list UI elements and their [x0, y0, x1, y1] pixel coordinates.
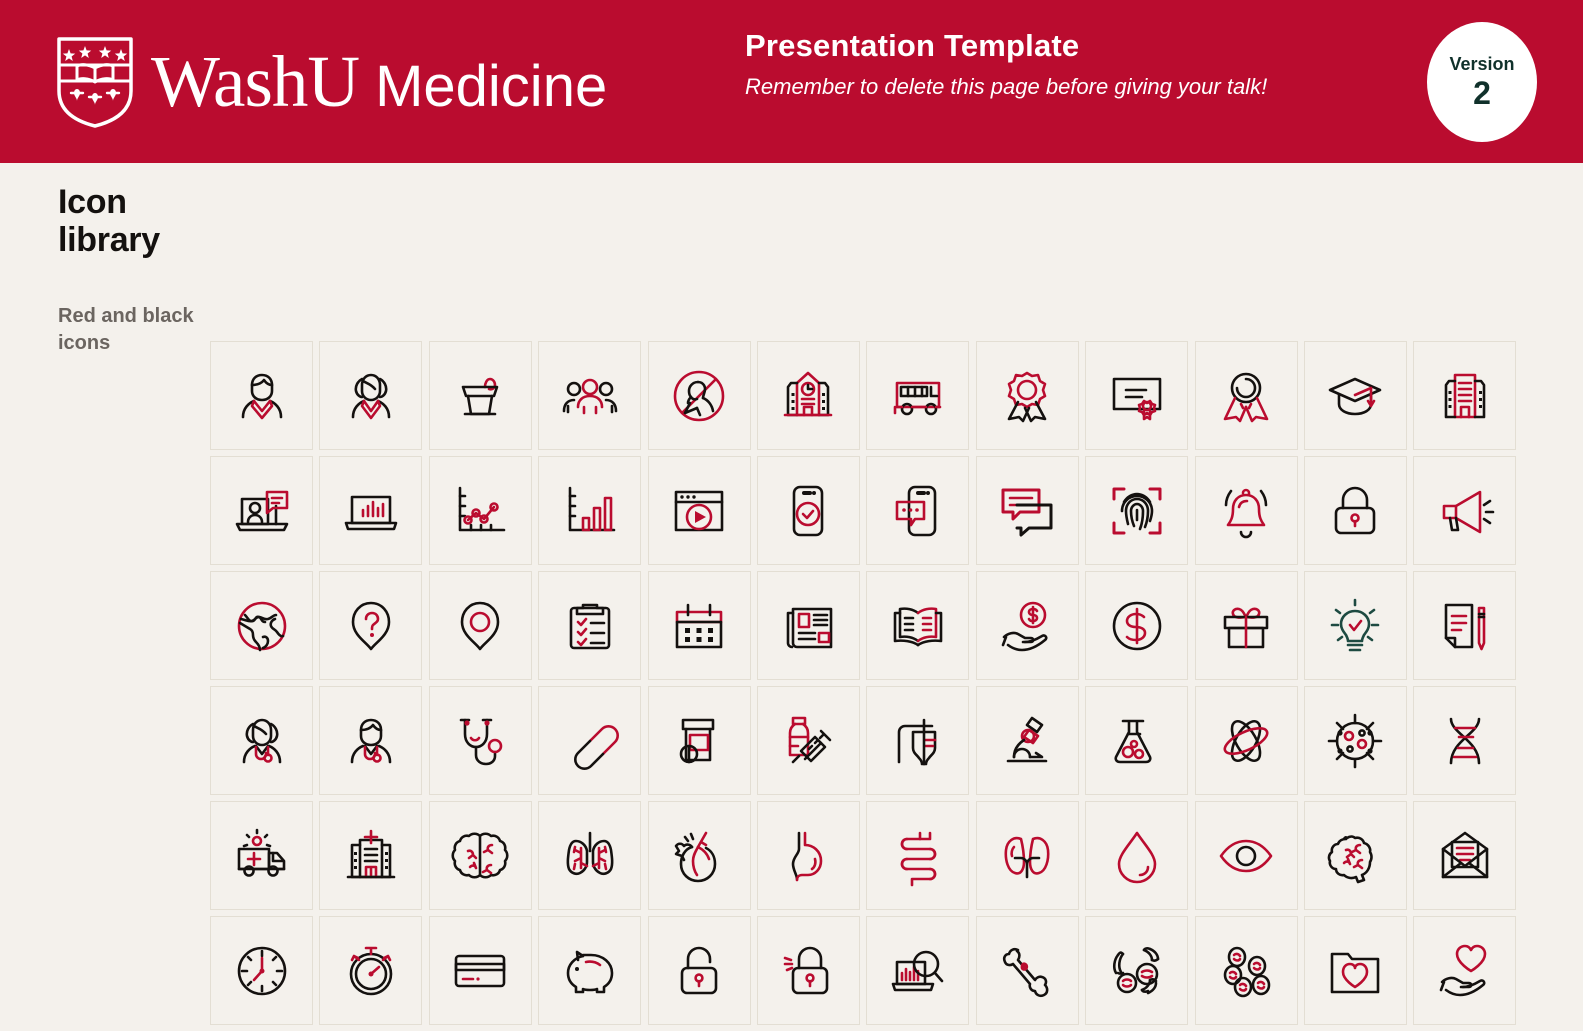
gift-box-icon	[1215, 595, 1277, 657]
heart-folder-icon	[1324, 940, 1386, 1002]
icon-cell-dna[interactable]	[1413, 686, 1516, 795]
slide-header: WashU Medicine Presentation Template Rem…	[0, 0, 1583, 163]
school-clock-building-icon	[777, 365, 839, 427]
no-founder-portrait-icon	[668, 365, 730, 427]
slide-body: Icon library Red and black icons	[0, 163, 1583, 890]
icon-cell-graduation-cap[interactable]	[1304, 341, 1407, 450]
padlock-icon	[1324, 480, 1386, 542]
icon-cell-atom[interactable]	[1195, 686, 1298, 795]
icon-cell-red-blood-cells[interactable]	[1195, 916, 1298, 1025]
icon-cell-heart-folder[interactable]	[1304, 916, 1407, 1025]
version-label: Version	[1449, 55, 1514, 73]
doctor-male-icon	[340, 710, 402, 772]
newspaper-icon	[777, 595, 839, 657]
blood-cells-icon	[1106, 940, 1168, 1002]
icon-cell-chat-bubbles[interactable]	[976, 456, 1079, 565]
hospital-icon	[340, 825, 402, 887]
logo-wordmark-secondary: Medicine	[375, 58, 607, 116]
checklist-clipboard-icon	[559, 595, 621, 657]
icon-cell-blood-drop[interactable]	[1085, 801, 1188, 910]
icon-cell-lock-open-alert[interactable]	[757, 916, 860, 1025]
data-search-icon	[887, 940, 949, 1002]
washu-medicine-logo: WashU Medicine	[55, 35, 607, 129]
icon-cell-newspaper[interactable]	[757, 571, 860, 680]
icon-cell-laptop-chart[interactable]	[319, 456, 422, 565]
icon-cell-note-pencil[interactable]	[1413, 571, 1516, 680]
open-book-icon	[887, 595, 949, 657]
medal-ribbon-icon	[1215, 365, 1277, 427]
lightbulb-idea-icon	[1324, 595, 1386, 657]
person-female-icon	[340, 365, 402, 427]
icon-cell-medal-ribbon[interactable]	[1195, 341, 1298, 450]
icon-cell-bone-marrow[interactable]	[976, 916, 1079, 1025]
sidebar-title: Icon library	[58, 183, 208, 259]
microscope-icon	[996, 710, 1058, 772]
location-pin-icon	[449, 595, 511, 657]
icon-cell-hand-money[interactable]	[976, 571, 1079, 680]
stopwatch-icon	[340, 940, 402, 1002]
sidebar-subtitle: Red and black icons	[58, 303, 208, 357]
icon-cell-mail-envelope[interactable]	[1413, 801, 1516, 910]
kidneys-icon	[996, 825, 1058, 887]
icon-cell-credit-card[interactable]	[429, 916, 532, 1025]
icon-cell-question-pin[interactable]	[319, 571, 422, 680]
red-blood-cells-icon	[1215, 940, 1277, 1002]
group-people-icon	[559, 365, 621, 427]
phone-message-icon	[887, 480, 949, 542]
icon-cell-globe[interactable]	[210, 571, 313, 680]
bar-chart-icon	[559, 480, 621, 542]
heart-anatomical-icon	[668, 825, 730, 887]
bone-marrow-icon	[996, 940, 1058, 1002]
icon-cell-calendar[interactable]	[648, 571, 751, 680]
doctor-female-icon	[231, 710, 293, 772]
phone-check-icon	[777, 480, 839, 542]
note-pencil-icon	[1434, 595, 1496, 657]
clock-icon	[231, 940, 293, 1002]
lectern-podium-icon	[449, 365, 511, 427]
icon-cell-line-chart[interactable]	[429, 456, 532, 565]
brain-side-icon	[1324, 825, 1386, 887]
credit-card-icon	[449, 940, 511, 1002]
icon-cell-stomach[interactable]	[757, 801, 860, 910]
icon-cell-lungs[interactable]	[538, 801, 641, 910]
icon-cell-iv-drip[interactable]	[866, 686, 969, 795]
icon-cell-stethoscope[interactable]	[429, 686, 532, 795]
version-number: 2	[1473, 77, 1491, 109]
icon-cell-megaphone[interactable]	[1413, 456, 1516, 565]
icon-cell-hospital[interactable]	[319, 801, 422, 910]
icon-cell-gift-box[interactable]	[1195, 571, 1298, 680]
lock-open-alert-icon	[777, 940, 839, 1002]
washu-shield-icon	[55, 35, 135, 129]
icon-cell-eye[interactable]	[1195, 801, 1298, 910]
icon-cell-doctor-female[interactable]	[210, 686, 313, 795]
certificate-icon	[1106, 365, 1168, 427]
icon-cell-dollar-circle[interactable]	[1085, 571, 1188, 680]
megaphone-icon	[1434, 480, 1496, 542]
icon-cell-person-male[interactable]	[210, 341, 313, 450]
pill-capsule-icon	[559, 710, 621, 772]
icon-cell-no-portrait[interactable]	[648, 341, 751, 450]
globe-icon	[231, 595, 293, 657]
stomach-icon	[777, 825, 839, 887]
icon-cell-laptop-webinar[interactable]	[210, 456, 313, 565]
icon-cell-lock-closed[interactable]	[648, 916, 751, 1025]
header-text-block: Presentation Template Remember to delete…	[745, 28, 1267, 100]
icon-cell-data-search[interactable]	[866, 916, 969, 1025]
dna-icon	[1434, 710, 1496, 772]
question-pin-icon	[340, 595, 402, 657]
laptop-webinar-icon	[231, 480, 293, 542]
icon-cell-phone-message[interactable]	[866, 456, 969, 565]
page-subtitle: Remember to delete this page before givi…	[745, 74, 1267, 100]
logo-wordmark-primary: WashU	[151, 47, 359, 116]
icon-cell-blood-cells[interactable]	[1085, 916, 1188, 1025]
hand-money-icon	[996, 595, 1058, 657]
icon-cell-stopwatch[interactable]	[319, 916, 422, 1025]
sidebar: Icon library Red and black icons	[58, 183, 208, 357]
intestines-icon	[887, 825, 949, 887]
icon-cell-brain-side[interactable]	[1304, 801, 1407, 910]
vaccine-syringe-icon	[777, 710, 839, 772]
icon-cell-video-window[interactable]	[648, 456, 751, 565]
icon-cell-fingerprint-scan[interactable]	[1085, 456, 1188, 565]
chat-bubbles-icon	[996, 480, 1058, 542]
atom-icon	[1215, 710, 1277, 772]
flask-icon	[1106, 710, 1168, 772]
icon-cell-bell[interactable]	[1195, 456, 1298, 565]
icon-cell-location-pin[interactable]	[429, 571, 532, 680]
dollar-circle-icon	[1106, 595, 1168, 657]
brain-top-icon	[449, 825, 511, 887]
mail-envelope-icon	[1434, 825, 1496, 887]
hand-heart-icon	[1434, 940, 1496, 1002]
icon-cell-group-people[interactable]	[538, 341, 641, 450]
icon-cell-pill-capsule[interactable]	[538, 686, 641, 795]
pill-bottle-icon	[668, 710, 730, 772]
icon-cell-pill-bottle[interactable]	[648, 686, 751, 795]
icon-cell-award-ribbon[interactable]	[976, 341, 1079, 450]
iv-drip-icon	[887, 710, 949, 772]
icon-cell-office-buildings[interactable]	[1413, 341, 1516, 450]
video-player-window-icon	[668, 480, 730, 542]
stethoscope-icon	[449, 710, 511, 772]
icon-cell-lectern[interactable]	[429, 341, 532, 450]
icon-cell-school-building[interactable]	[757, 341, 860, 450]
icon-cell-clock[interactable]	[210, 916, 313, 1025]
award-ribbon-icon	[996, 365, 1058, 427]
ambulance-icon	[231, 825, 293, 887]
icon-cell-person-female[interactable]	[319, 341, 422, 450]
bell-icon	[1215, 480, 1277, 542]
graduation-cap-icon	[1324, 365, 1386, 427]
icon-cell-flask[interactable]	[1085, 686, 1188, 795]
icon-cell-intestines[interactable]	[866, 801, 969, 910]
icon-cell-ambulance[interactable]	[210, 801, 313, 910]
icon-cell-bar-chart[interactable]	[538, 456, 641, 565]
icon-cell-bus[interactable]	[866, 341, 969, 450]
icon-cell-hand-heart[interactable]	[1413, 916, 1516, 1025]
laptop-chart-icon	[340, 480, 402, 542]
virus-cell-icon	[1324, 710, 1386, 772]
icon-grid	[210, 341, 1523, 1031]
blood-drop-icon	[1106, 825, 1168, 887]
bus-icon	[887, 365, 949, 427]
icon-cell-phone-check[interactable]	[757, 456, 860, 565]
icon-cell-virus-cell[interactable]	[1304, 686, 1407, 795]
icon-cell-heart-anatomical[interactable]	[648, 801, 751, 910]
calendar-icon	[668, 595, 730, 657]
icon-cell-kidneys[interactable]	[976, 801, 1079, 910]
lungs-icon	[559, 825, 621, 887]
icon-cell-microscope[interactable]	[976, 686, 1079, 795]
icon-cell-brain-top[interactable]	[429, 801, 532, 910]
icon-cell-checklist[interactable]	[538, 571, 641, 680]
slide-root: WashU Medicine Presentation Template Rem…	[0, 0, 1583, 890]
line-chart-icon	[449, 480, 511, 542]
icon-cell-doctor-male[interactable]	[319, 686, 422, 795]
fingerprint-scan-icon	[1106, 480, 1168, 542]
version-badge: Version 2	[1427, 22, 1537, 142]
person-male-icon	[231, 365, 293, 427]
lock-closed-icon	[668, 940, 730, 1002]
icon-cell-padlock[interactable]	[1304, 456, 1407, 565]
page-title: Presentation Template	[745, 28, 1267, 64]
piggy-bank-icon	[559, 940, 621, 1002]
icon-cell-piggy-bank[interactable]	[538, 916, 641, 1025]
icon-cell-open-book[interactable]	[866, 571, 969, 680]
icon-cell-certificate[interactable]	[1085, 341, 1188, 450]
icon-cell-vaccine-syringe[interactable]	[757, 686, 860, 795]
eye-icon	[1215, 825, 1277, 887]
icon-cell-lightbulb[interactable]	[1304, 571, 1407, 680]
office-buildings-icon	[1434, 365, 1496, 427]
